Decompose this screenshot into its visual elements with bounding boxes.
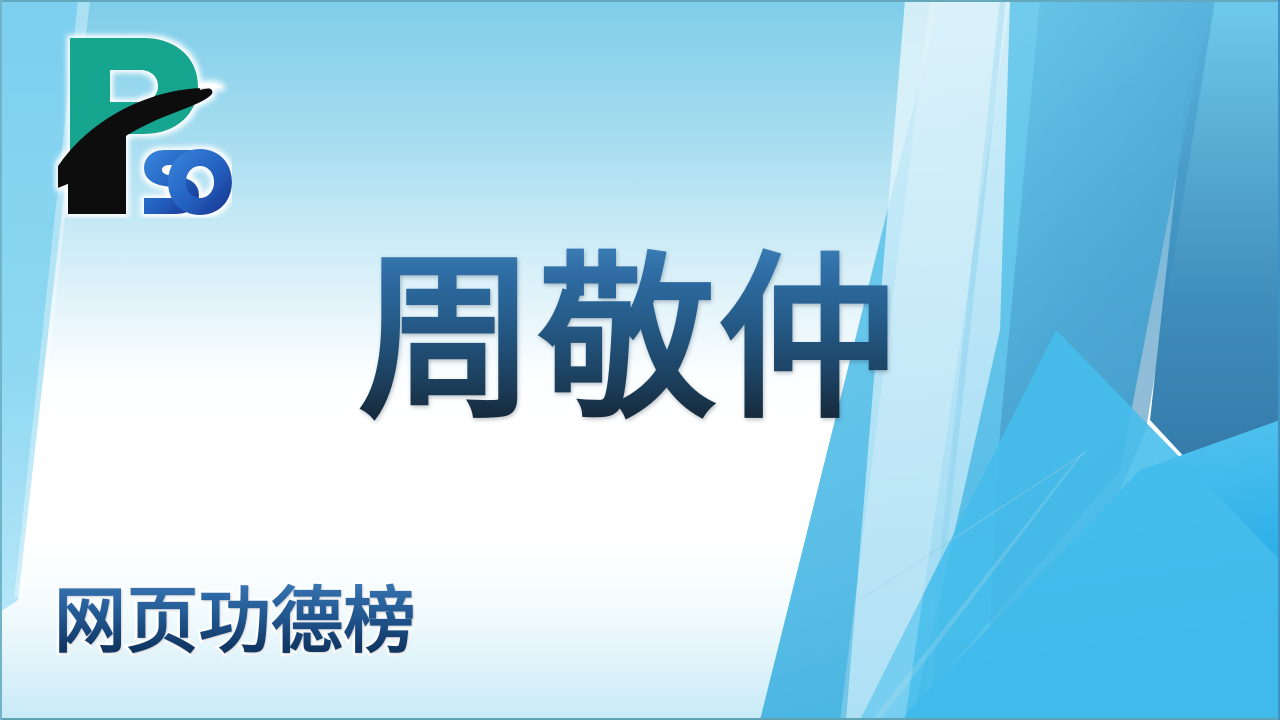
title-slide: 周敬仲 网页功德榜 网页功德榜: [0, 0, 1280, 720]
subtitle-container: 网页功德榜 网页功德榜: [54, 583, 416, 661]
subtitle: 网页功德榜: [54, 579, 416, 663]
slide-border-top: [0, 0, 1280, 2]
slide-border-left: [0, 0, 2, 720]
logo-swoosh-tip: [200, 83, 222, 90]
pso-logo: [52, 28, 232, 218]
logo-text-so: [144, 149, 232, 215]
